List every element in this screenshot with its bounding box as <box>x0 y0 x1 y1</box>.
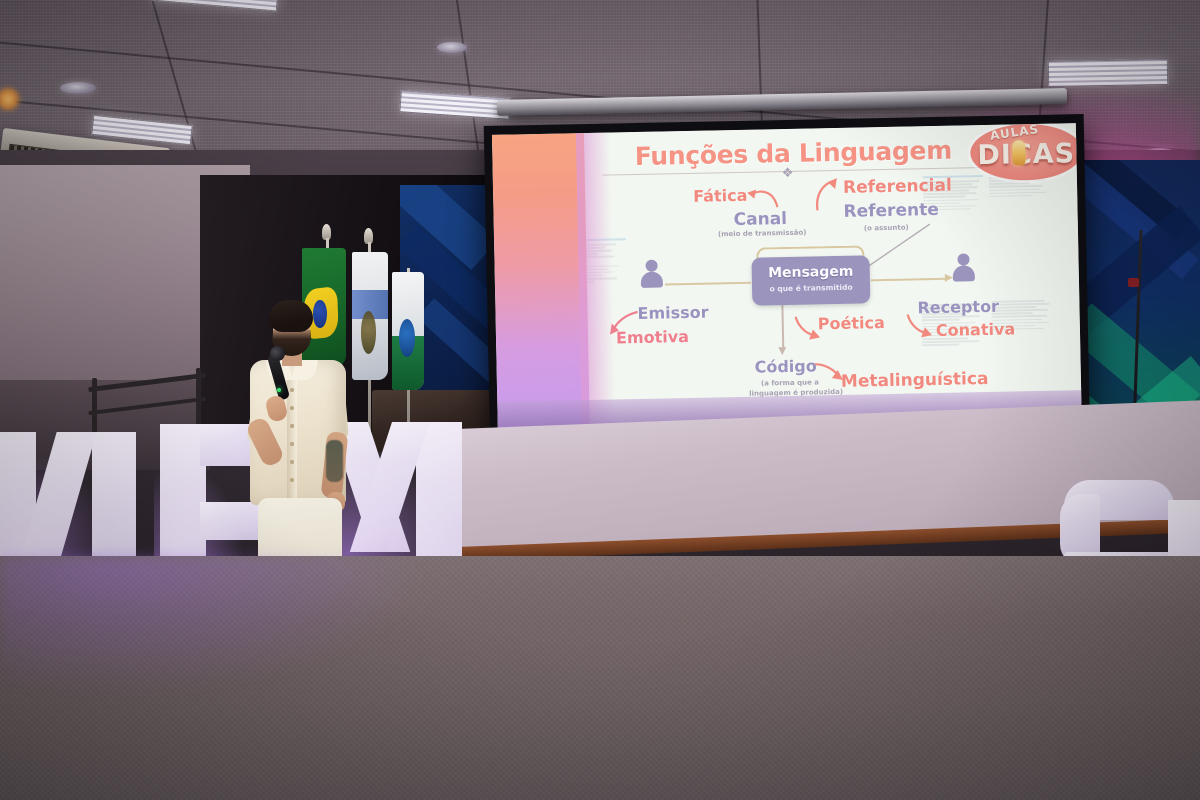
message-box-title: Mensagem <box>752 263 870 281</box>
microphone-power-led <box>277 388 281 392</box>
projector-screen: Funções da Linguagem ❖ AULAS DICAS <box>484 114 1091 456</box>
projection-light-leak-soft <box>576 133 616 429</box>
arrow-head-right <box>945 274 953 282</box>
label-emotiva: Emotiva <box>616 327 689 347</box>
label-poetica: Poética <box>818 313 885 333</box>
person-head <box>957 253 969 265</box>
emissor-person-icon <box>640 259 663 287</box>
person-body <box>641 271 663 287</box>
logo-main-text: DICAS <box>977 138 1075 171</box>
shirt-button <box>290 406 294 410</box>
ceiling-light-panel <box>1048 59 1168 87</box>
label-canal: Canal <box>733 209 787 230</box>
projection-light-leak <box>492 133 590 430</box>
presenter-arm-tattoo <box>326 440 343 482</box>
label-codigo-sub-line1: (a forma que a <box>761 378 819 388</box>
label-metalinguistica: Metalinguística <box>841 369 989 392</box>
label-referente: Referente <box>843 200 939 222</box>
recessed-downlight <box>60 82 96 94</box>
dicas-logo: AULAS DICAS <box>970 123 1081 181</box>
label-codigo: Código <box>754 356 816 376</box>
label-emissor: Emissor <box>637 303 708 323</box>
arrow-mensagem-to-codigo <box>781 305 783 349</box>
message-box-subtitle: o que é transmitido <box>752 282 870 293</box>
shirt-button <box>290 478 294 482</box>
auditorium-photo: Funções da Linguagem ❖ AULAS DICAS <box>0 0 1200 800</box>
arrow-head-down <box>778 347 786 355</box>
presentation-slide: Funções da Linguagem ❖ AULAS DICAS <box>584 123 1081 400</box>
title-divider-ornament: ❖ <box>782 165 794 181</box>
recessed-downlight <box>437 42 467 53</box>
label-conativa: Conativa <box>936 319 1016 340</box>
arrow-mensagem-to-receptor <box>871 278 947 281</box>
shirt-button <box>290 388 294 392</box>
shirt-button <box>290 424 294 428</box>
projector-screen-surface: Funções da Linguagem ❖ AULAS DICAS <box>492 123 1082 430</box>
arrow-referencial <box>813 178 842 213</box>
presenter-hair <box>269 300 313 332</box>
person-body <box>953 265 975 281</box>
slide-title: Funções da Linguagem <box>598 135 989 172</box>
microphone-stand-clip <box>1128 278 1139 287</box>
person-head <box>645 260 657 272</box>
label-canal-sub: (meio de transmissão) <box>718 229 807 240</box>
shirt-button <box>290 442 294 446</box>
arrow-fatica <box>747 185 780 212</box>
lightbulb-icon <box>1012 140 1025 165</box>
receptor-person-icon <box>952 253 975 281</box>
label-referente-sub: (o assunto) <box>864 224 909 234</box>
label-receptor: Receptor <box>917 297 999 318</box>
flag-municipal-disc <box>399 319 415 357</box>
flag-municipal <box>392 272 424 390</box>
floor-purple-light <box>0 556 430 696</box>
message-box: Mensagem o que é transmitido <box>751 255 870 305</box>
label-fatica: Fática <box>693 186 748 206</box>
label-referencial: Referencial <box>843 176 952 198</box>
arrow-emissor-to-mensagem <box>665 282 751 285</box>
shirt-button <box>290 460 294 464</box>
